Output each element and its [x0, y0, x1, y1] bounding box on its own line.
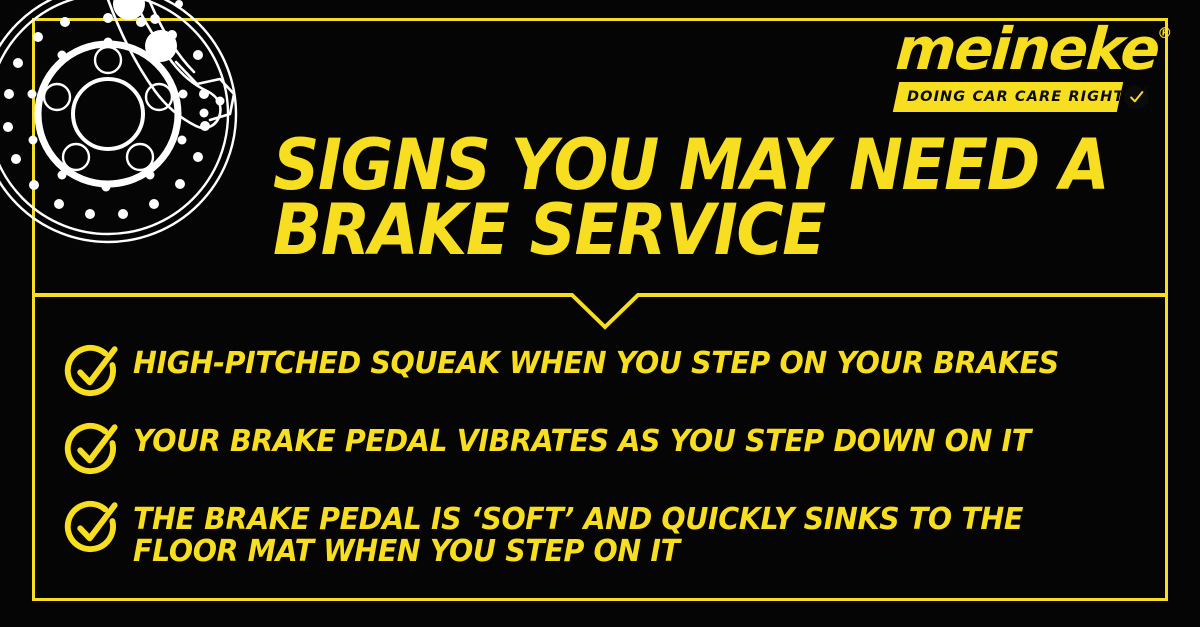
check-circle-icon [63, 342, 121, 400]
check-circle-icon [63, 420, 121, 478]
list-item-line: FLOOR MAT WHEN YOU STEP ON IT [133, 536, 1023, 568]
list-item-text: YOUR BRAKE PEDAL VIBRATES AS YOU STEP DO… [133, 418, 1031, 458]
brake-rotor-caliper-illustration [0, 0, 288, 284]
chevron-notch-divider [32, 278, 1168, 330]
list-item: YOUR BRAKE PEDAL VIBRATES AS YOU STEP DO… [63, 418, 1163, 478]
page-title: SIGNS YOU MAY NEED A BRAKE SERVICE [273, 133, 1103, 263]
logo-tagline-text: DOING CAR CARE RIGHT [907, 89, 1124, 105]
check-circle-icon [63, 498, 121, 556]
headline-line-2: BRAKE SERVICE [273, 198, 1037, 263]
meineke-logo: meineke ® DOING CAR CARE RIGHT [896, 22, 1158, 112]
list-item-line: HIGH-PITCHED SQUEAK WHEN YOU STEP ON YOU… [133, 348, 1059, 380]
check-circle-icon [1124, 85, 1148, 109]
list-item: THE BRAKE PEDAL IS ‘SOFT’ AND QUICKLY SI… [63, 496, 1163, 568]
list-item: HIGH-PITCHED SQUEAK WHEN YOU STEP ON YOU… [63, 340, 1163, 400]
logo-tagline-banner: DOING CAR CARE RIGHT [893, 82, 1123, 112]
brake-service-infographic: meineke ® DOING CAR CARE RIGHT SIGNS YOU… [0, 0, 1200, 627]
registered-trademark-icon: ® [1157, 26, 1173, 40]
list-item-line: YOUR BRAKE PEDAL VIBRATES AS YOU STEP DO… [133, 426, 1031, 458]
list-item-text: HIGH-PITCHED SQUEAK WHEN YOU STEP ON YOU… [133, 340, 1059, 380]
logo-wordmark-text: meineke [894, 15, 1161, 83]
symptom-list: HIGH-PITCHED SQUEAK WHEN YOU STEP ON YOU… [63, 340, 1163, 568]
list-item-text: THE BRAKE PEDAL IS ‘SOFT’ AND QUICKLY SI… [133, 496, 1023, 568]
logo-wordmark: meineke ® [894, 22, 1160, 77]
list-item-line: THE BRAKE PEDAL IS ‘SOFT’ AND QUICKLY SI… [133, 504, 1023, 536]
